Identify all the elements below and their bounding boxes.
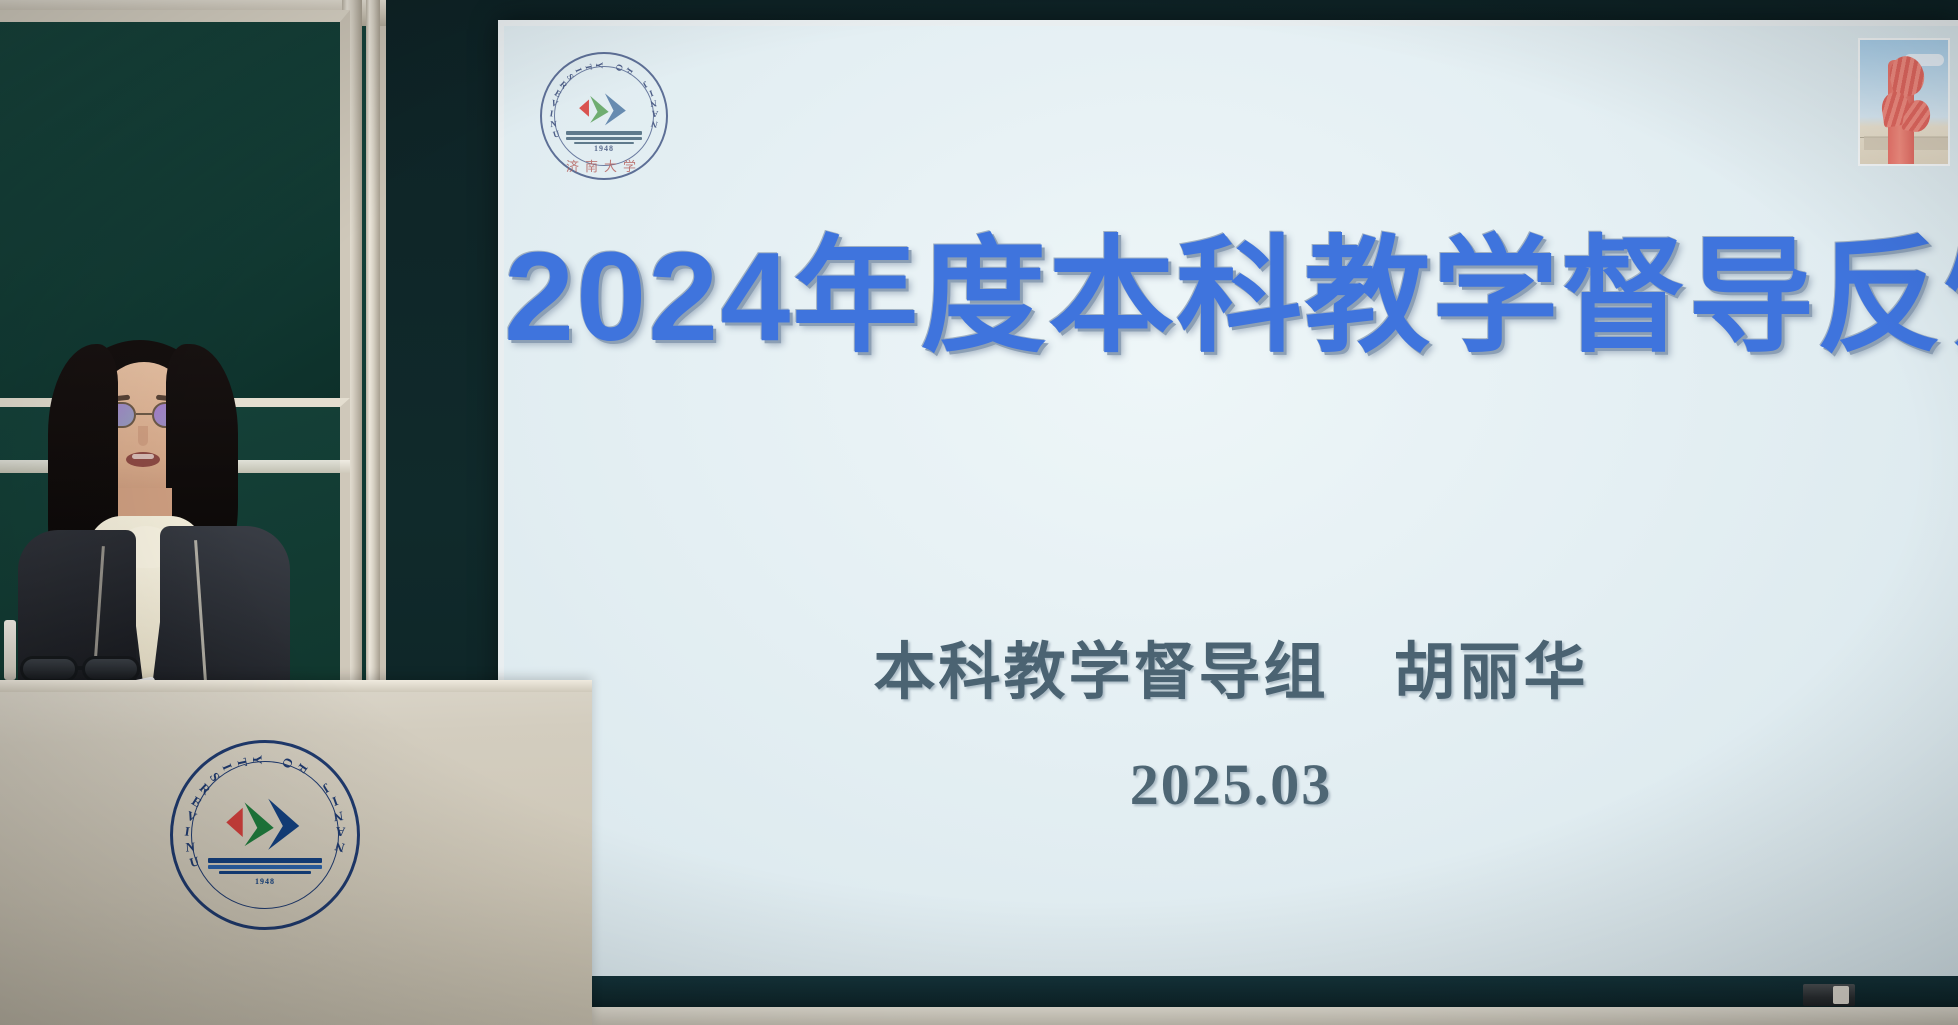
eyeglass-bridge <box>136 413 152 415</box>
seal-year: 1948 <box>540 144 668 153</box>
slide-date: 2025.03 <box>504 751 1958 818</box>
desk-eyeglass-lens-left <box>20 656 78 682</box>
chalk-ledge-tray <box>386 1007 1958 1025</box>
desk-eyeglass-lens-right <box>82 656 140 682</box>
university-seal-icon: UNIVERSITY OF JINAN 1948 济南大学 <box>540 52 668 180</box>
presenter-nose <box>138 426 148 446</box>
projection-screen: UNIVERSITY OF JINAN 1948 济南大学 <box>504 26 1958 976</box>
blackboard-eraser <box>1803 984 1855 1006</box>
seal-chevron-mark <box>573 87 634 131</box>
presenter-mouth <box>126 452 160 467</box>
chalk-ledge-dark-strip <box>386 976 1958 1008</box>
presentation-slide: UNIVERSITY OF JINAN 1948 济南大学 <box>504 26 1958 976</box>
desk-marker-pen <box>4 620 16 680</box>
lectern-top-edge <box>0 680 592 692</box>
slide-subtitle: 本科教学督导组 胡丽华 <box>504 621 1958 711</box>
slide-title: 2024年度本科教学督导反馈 <box>504 226 1958 367</box>
campus-sculpture-photo <box>1858 38 1950 166</box>
lectern-logo-year: 1948 <box>170 877 360 886</box>
lectern-logo-chevron-mark <box>219 791 310 856</box>
lecture-photo-scene: UNIVERSITY OF JINAN 1948 济南大学 <box>0 0 1958 1025</box>
seal-chinese-name: 济南大学 <box>540 156 668 175</box>
lectern-university-logo: UNIVERSITY OF JINAN 1948 <box>170 740 360 930</box>
lectern: UNIVERSITY OF JINAN 1948 <box>0 680 592 1025</box>
